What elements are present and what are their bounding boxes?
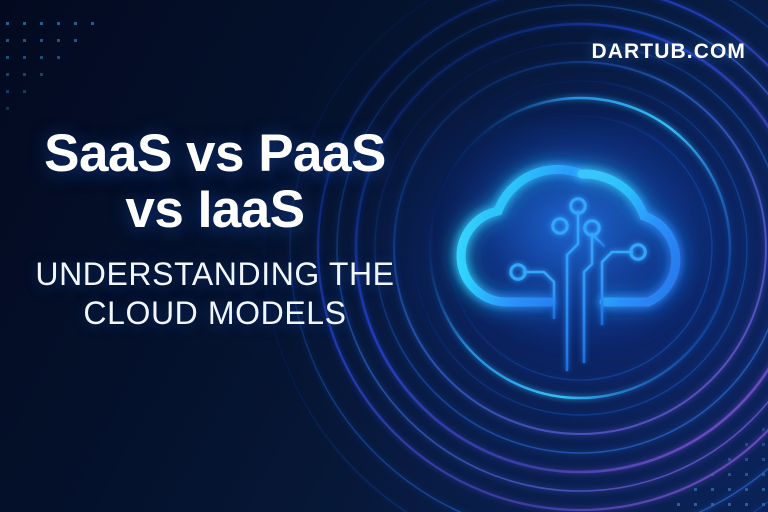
page-title: SaaS vs PaaS vs IaaS	[0, 126, 430, 237]
grid-dot	[762, 443, 765, 446]
grid-dot	[762, 473, 765, 476]
grid-dot	[23, 90, 26, 93]
grid-dot	[91, 22, 94, 25]
hero-text-block: SaaS vs PaaS vs IaaS UNDERSTANDING THE C…	[0, 126, 430, 333]
grid-dot	[728, 473, 731, 476]
grid-dot	[745, 458, 748, 461]
grid-dot	[6, 90, 9, 93]
grid-dot	[6, 22, 9, 25]
grid-dot	[23, 73, 26, 76]
grid-dot	[745, 473, 748, 476]
grid-dot	[762, 428, 765, 431]
grid-dot	[762, 488, 765, 491]
grid-dot	[40, 39, 43, 42]
grid-dot	[711, 488, 714, 491]
grid-dot	[728, 458, 731, 461]
grid-dot	[728, 488, 731, 491]
grid-dot	[711, 473, 714, 476]
grid-dot	[711, 503, 714, 506]
grid-dot	[6, 107, 9, 110]
grid-dot	[762, 458, 765, 461]
grid-dot	[745, 488, 748, 491]
grid-dot	[57, 22, 60, 25]
grid-dot	[40, 22, 43, 25]
grid-dot	[57, 39, 60, 42]
hero-banner: DARTUB.COM SaaS vs PaaS vs IaaS UNDERSTA…	[0, 0, 768, 512]
subtitle-line-1: UNDERSTANDING THE	[35, 256, 394, 292]
grid-dot	[762, 503, 765, 506]
title-line-1: SaaS vs PaaS	[44, 124, 386, 183]
grid-dot	[745, 443, 748, 446]
cloud-glow	[440, 122, 724, 352]
cloud-graphic	[432, 112, 732, 412]
grid-dot	[694, 503, 697, 506]
grid-dot	[23, 56, 26, 59]
grid-dot	[40, 73, 43, 76]
grid-dot	[745, 503, 748, 506]
grid-dot	[728, 503, 731, 506]
grid-dot	[23, 39, 26, 42]
grid-dot	[40, 56, 43, 59]
grid-dot	[677, 503, 680, 506]
grid-dot	[6, 56, 9, 59]
title-line-2: vs IaaS	[125, 180, 304, 239]
grid-dot	[6, 39, 9, 42]
subtitle-line-2: CLOUD MODELS	[83, 295, 346, 331]
grid-dot	[74, 39, 77, 42]
grid-dot	[23, 22, 26, 25]
page-subtitle: UNDERSTANDING THE CLOUD MODELS	[0, 255, 430, 333]
grid-dot	[57, 56, 60, 59]
brand-logo: DARTUB.COM	[592, 40, 746, 64]
grid-dot	[694, 488, 697, 491]
grid-dot	[6, 73, 9, 76]
grid-dot	[74, 22, 77, 25]
